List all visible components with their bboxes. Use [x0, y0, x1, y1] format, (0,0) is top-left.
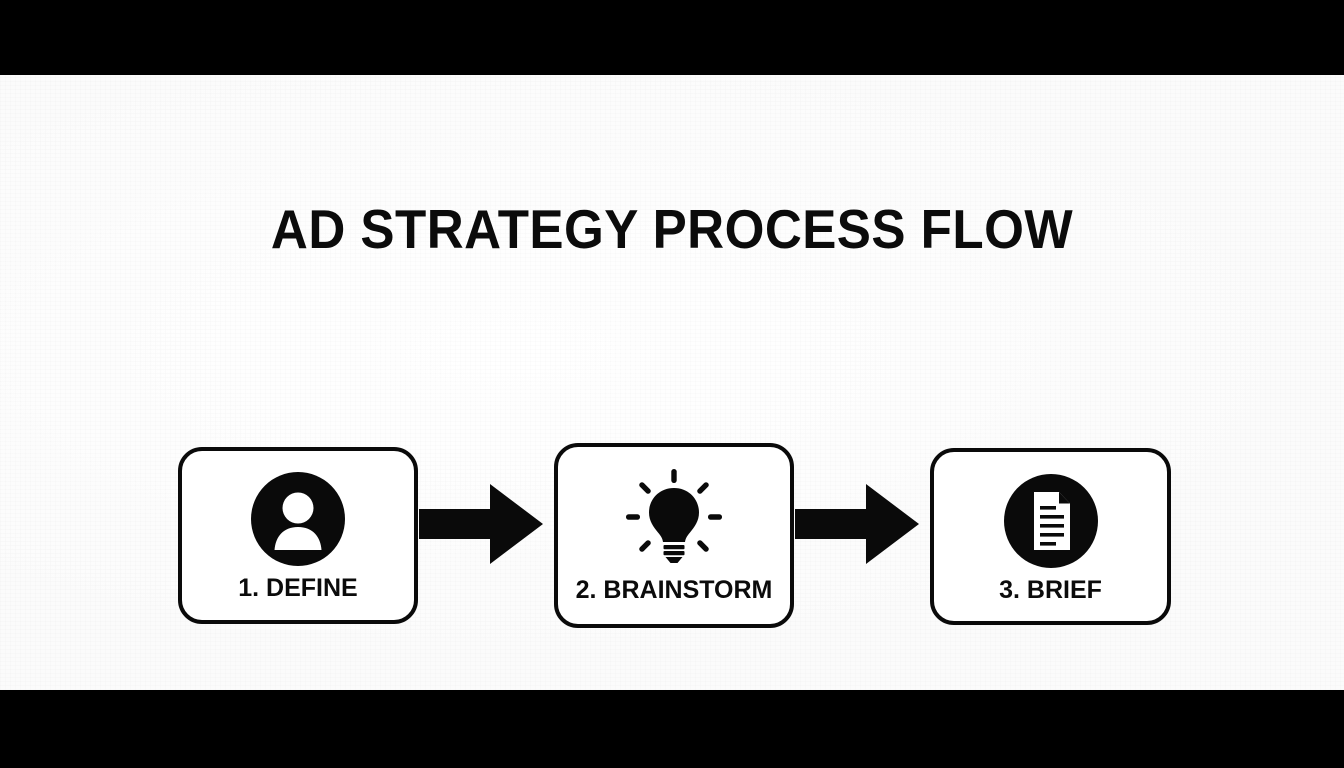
letterbox-bar-bottom: [0, 690, 1344, 768]
arrow-right-icon: [419, 480, 545, 568]
lightbulb-icon: [626, 469, 722, 565]
process-step-brief[interactable]: 3. BRIEF: [930, 448, 1171, 625]
lightbulb-icon-wrapper: [558, 469, 790, 565]
person-icon: [250, 471, 346, 567]
document-icon: [1003, 473, 1099, 569]
process-step-label: 3. BRIEF: [934, 575, 1167, 605]
document-icon-wrapper: [934, 473, 1167, 569]
flow-arrow-2: [795, 480, 921, 568]
process-step-brainstorm[interactable]: 2. BRAINSTORM: [554, 443, 794, 628]
slide-frame: AD STRATEGY PROCESS FLOW 1. DEFINE: [0, 0, 1344, 768]
slide-canvas: AD STRATEGY PROCESS FLOW 1. DEFINE: [0, 75, 1344, 690]
process-step-label: 1. DEFINE: [182, 573, 414, 603]
flow-arrow-1: [419, 480, 545, 568]
arrow-right-icon: [795, 480, 921, 568]
page-title: AD STRATEGY PROCESS FLOW: [47, 198, 1297, 260]
process-flow-diagram: 1. DEFINE: [0, 365, 1344, 555]
process-step-label: 2. BRAINSTORM: [558, 575, 790, 605]
letterbox-bar-top: [0, 0, 1344, 75]
person-icon-wrapper: [182, 471, 414, 567]
process-step-define[interactable]: 1. DEFINE: [178, 447, 418, 624]
